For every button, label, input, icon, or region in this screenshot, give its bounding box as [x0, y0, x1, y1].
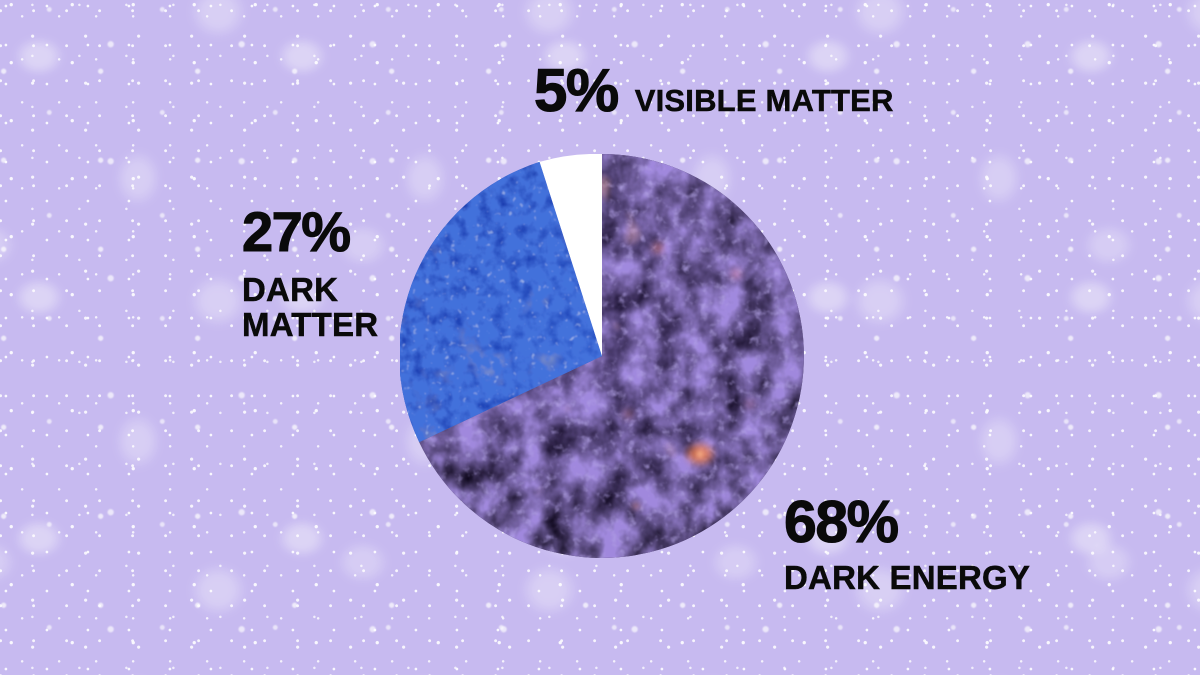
- dark-matter-percent: 27%: [120, 205, 375, 259]
- label-dark-energy: 68% DARK ENERGY: [784, 494, 1030, 596]
- dark-energy-name: DARK ENERGY: [784, 561, 1030, 596]
- dark-matter-name: DARK MATTER: [120, 273, 375, 343]
- visible-matter-name: VISIBLE MATTER: [635, 85, 894, 118]
- dark-energy-percent: 68%: [784, 494, 1030, 551]
- infographic-canvas: 5% VISIBLE MATTER 27% DARK MATTER 68% DA…: [0, 0, 1200, 675]
- label-visible-matter: 5% VISIBLE MATTER: [534, 62, 894, 120]
- dark-matter-name-line2: MATTER: [242, 308, 375, 343]
- pie-chart: [400, 154, 804, 558]
- label-dark-matter: 27% DARK MATTER: [120, 205, 375, 343]
- dark-matter-name-line1: DARK: [242, 273, 375, 308]
- visible-matter-percent: 5%: [534, 62, 618, 120]
